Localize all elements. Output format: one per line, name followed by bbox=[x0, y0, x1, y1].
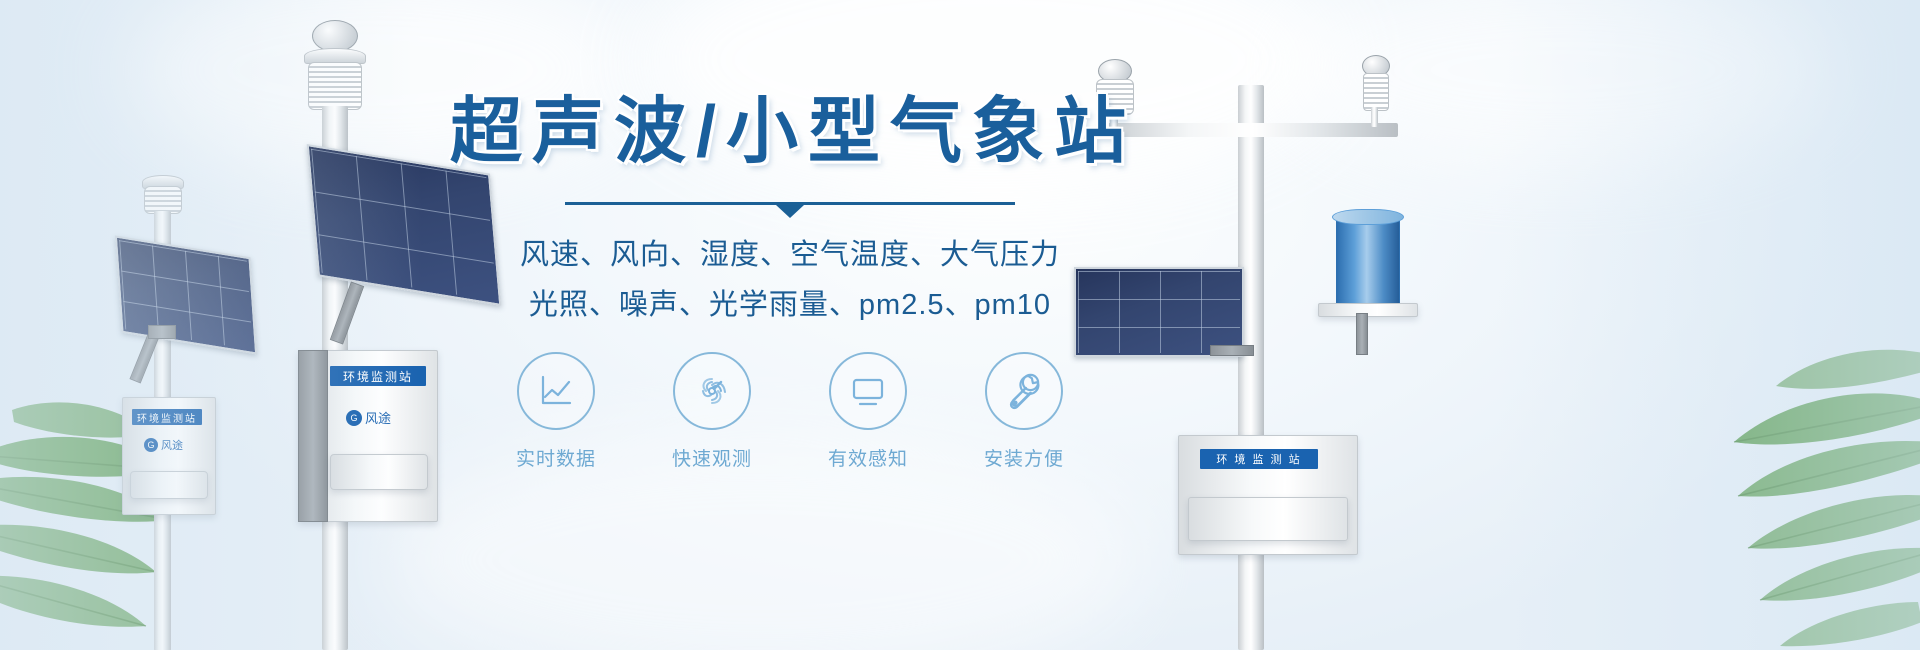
banner-subtitle: 风速、风向、湿度、空气温度、大气压力 光照、噪声、光学雨量、pm2.5、pm10 bbox=[450, 230, 1130, 330]
feature-list: 实时数据 快速观测 bbox=[450, 352, 1130, 471]
feature-item-fast-observation[interactable]: 快速观测 bbox=[656, 352, 768, 471]
monitor-screen-icon bbox=[829, 352, 907, 430]
banner-content: 超声波/小型气象站 风速、风向、湿度、空气温度、大气压力 光照、噪声、光学雨量、… bbox=[450, 96, 1130, 471]
line-chart-icon bbox=[517, 352, 595, 430]
subtitle-line-1: 风速、风向、湿度、空气温度、大气压力 bbox=[450, 230, 1130, 280]
feature-label: 快速观测 bbox=[672, 444, 752, 471]
wrench-icon bbox=[985, 352, 1063, 430]
subtitle-line-2: 光照、噪声、光学雨量、pm2.5、pm10 bbox=[450, 280, 1130, 330]
feature-label: 实时数据 bbox=[516, 444, 596, 471]
title-divider bbox=[565, 202, 1015, 216]
triangle-down-icon bbox=[776, 205, 804, 218]
feature-label: 有效感知 bbox=[828, 444, 908, 471]
feature-item-realtime-data[interactable]: 实时数据 bbox=[500, 352, 612, 471]
product-banner: 环境监测站 G 风途 环境监测站 G 风途 bbox=[0, 0, 1920, 650]
feature-item-easy-installation[interactable]: 安装方便 bbox=[968, 352, 1080, 471]
feature-label: 安装方便 bbox=[984, 444, 1064, 471]
feature-item-effective-sensing[interactable]: 有效感知 bbox=[812, 352, 924, 471]
radar-signal-icon bbox=[673, 352, 751, 430]
banner-title: 超声波/小型气象站 bbox=[450, 96, 1130, 168]
